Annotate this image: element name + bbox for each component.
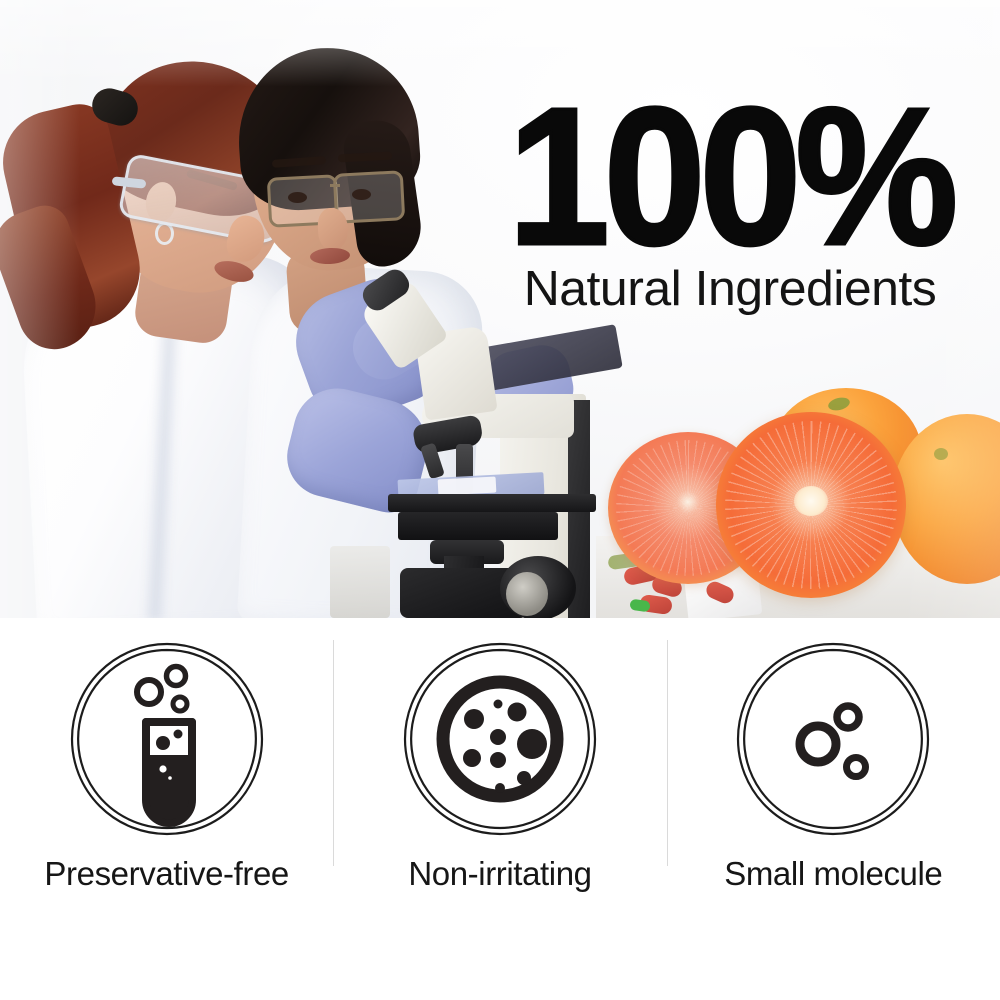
headline: 100% Natural Ingredients [500,92,960,314]
feature-small-molecule: Small molecule [667,618,1000,1000]
eye-left [288,192,307,203]
eye-right [352,189,371,200]
microscope-fine-focus-knob [506,572,548,616]
feature-label: Preservative-free [44,855,288,893]
feature-preservative-free: Preservative-free [0,618,333,1000]
microscope-slide-label [438,476,497,495]
feature-label: Small molecule [724,855,942,893]
microscope-stage-lower [398,512,558,540]
feature-list: Preservative-free [0,618,1000,1000]
molecule-rings-icon [730,636,936,847]
headline-subtitle: Natural Ingredients [495,265,964,314]
orange-navel [934,448,948,460]
feature-label: Non-irritating [408,855,591,893]
petri-dish-icon [397,636,603,847]
eyeglasses-bridge [330,184,340,187]
orange-half-main [716,412,906,598]
headline-percent: 100% [493,92,967,260]
test-tube-icon [64,636,270,847]
feature-non-irritating: Non-irritating [333,618,666,1000]
bench-object [330,546,390,618]
product-feature-banner: 100% Natural Ingredients [0,0,1000,1000]
microscope-stage [388,494,596,512]
